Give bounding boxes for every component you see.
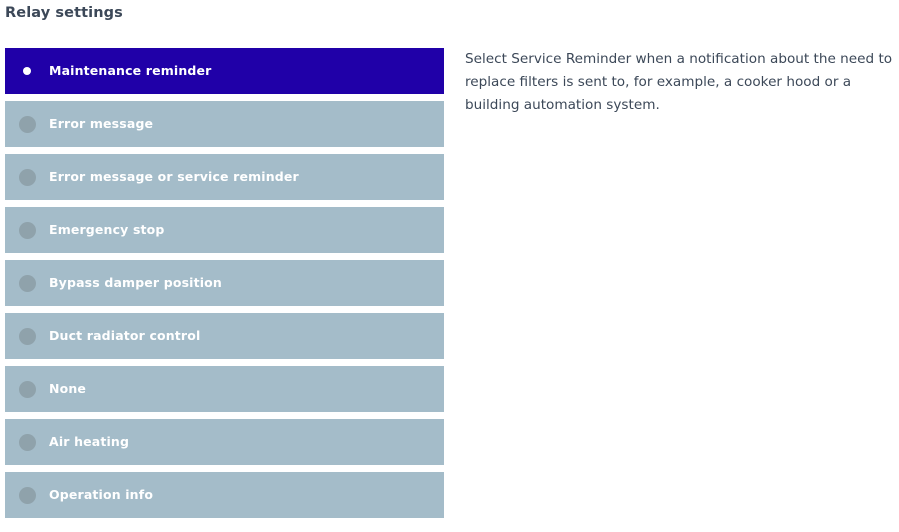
relay-settings-page: Relay settings Maintenance reminderError… bbox=[0, 0, 899, 532]
relay-option-error-message[interactable]: Error message bbox=[5, 101, 444, 147]
relay-option-label: Emergency stop bbox=[49, 222, 165, 238]
description-panel: Select Service Reminder when a notificat… bbox=[465, 48, 897, 117]
relay-option-bypass-damper-position[interactable]: Bypass damper position bbox=[5, 260, 444, 306]
relay-option-label: None bbox=[49, 381, 86, 397]
relay-option-duct-radiator-control[interactable]: Duct radiator control bbox=[5, 313, 444, 359]
relay-option-operation-info[interactable]: Operation info bbox=[5, 472, 444, 518]
relay-option-label: Operation info bbox=[49, 487, 153, 503]
radio-selected-icon bbox=[23, 67, 31, 75]
relay-option-label: Error message bbox=[49, 116, 153, 132]
relay-option-label: Duct radiator control bbox=[49, 328, 200, 344]
relay-option-label: Maintenance reminder bbox=[49, 63, 211, 79]
radio-unselected-icon bbox=[19, 222, 36, 239]
radio-unselected-icon bbox=[19, 116, 36, 133]
relay-option-maintenance-reminder[interactable]: Maintenance reminder bbox=[5, 48, 444, 94]
description-text: Select Service Reminder when a notificat… bbox=[465, 48, 897, 117]
relay-option-label: Error message or service reminder bbox=[49, 169, 299, 185]
radio-unselected-icon bbox=[19, 328, 36, 345]
radio-unselected-icon bbox=[19, 381, 36, 398]
relay-option-label: Air heating bbox=[49, 434, 129, 450]
relay-option-emergency-stop[interactable]: Emergency stop bbox=[5, 207, 444, 253]
radio-unselected-icon bbox=[19, 169, 36, 186]
relay-option-air-heating[interactable]: Air heating bbox=[5, 419, 444, 465]
relay-option-error-message-or-service-reminder[interactable]: Error message or service reminder bbox=[5, 154, 444, 200]
radio-unselected-icon bbox=[19, 275, 36, 292]
relay-option-none[interactable]: None bbox=[5, 366, 444, 412]
relay-option-label: Bypass damper position bbox=[49, 275, 222, 291]
radio-unselected-icon bbox=[19, 487, 36, 504]
radio-unselected-icon bbox=[19, 434, 36, 451]
page-title: Relay settings bbox=[5, 3, 123, 23]
relay-mode-option-list: Maintenance reminderError messageError m… bbox=[5, 48, 444, 525]
